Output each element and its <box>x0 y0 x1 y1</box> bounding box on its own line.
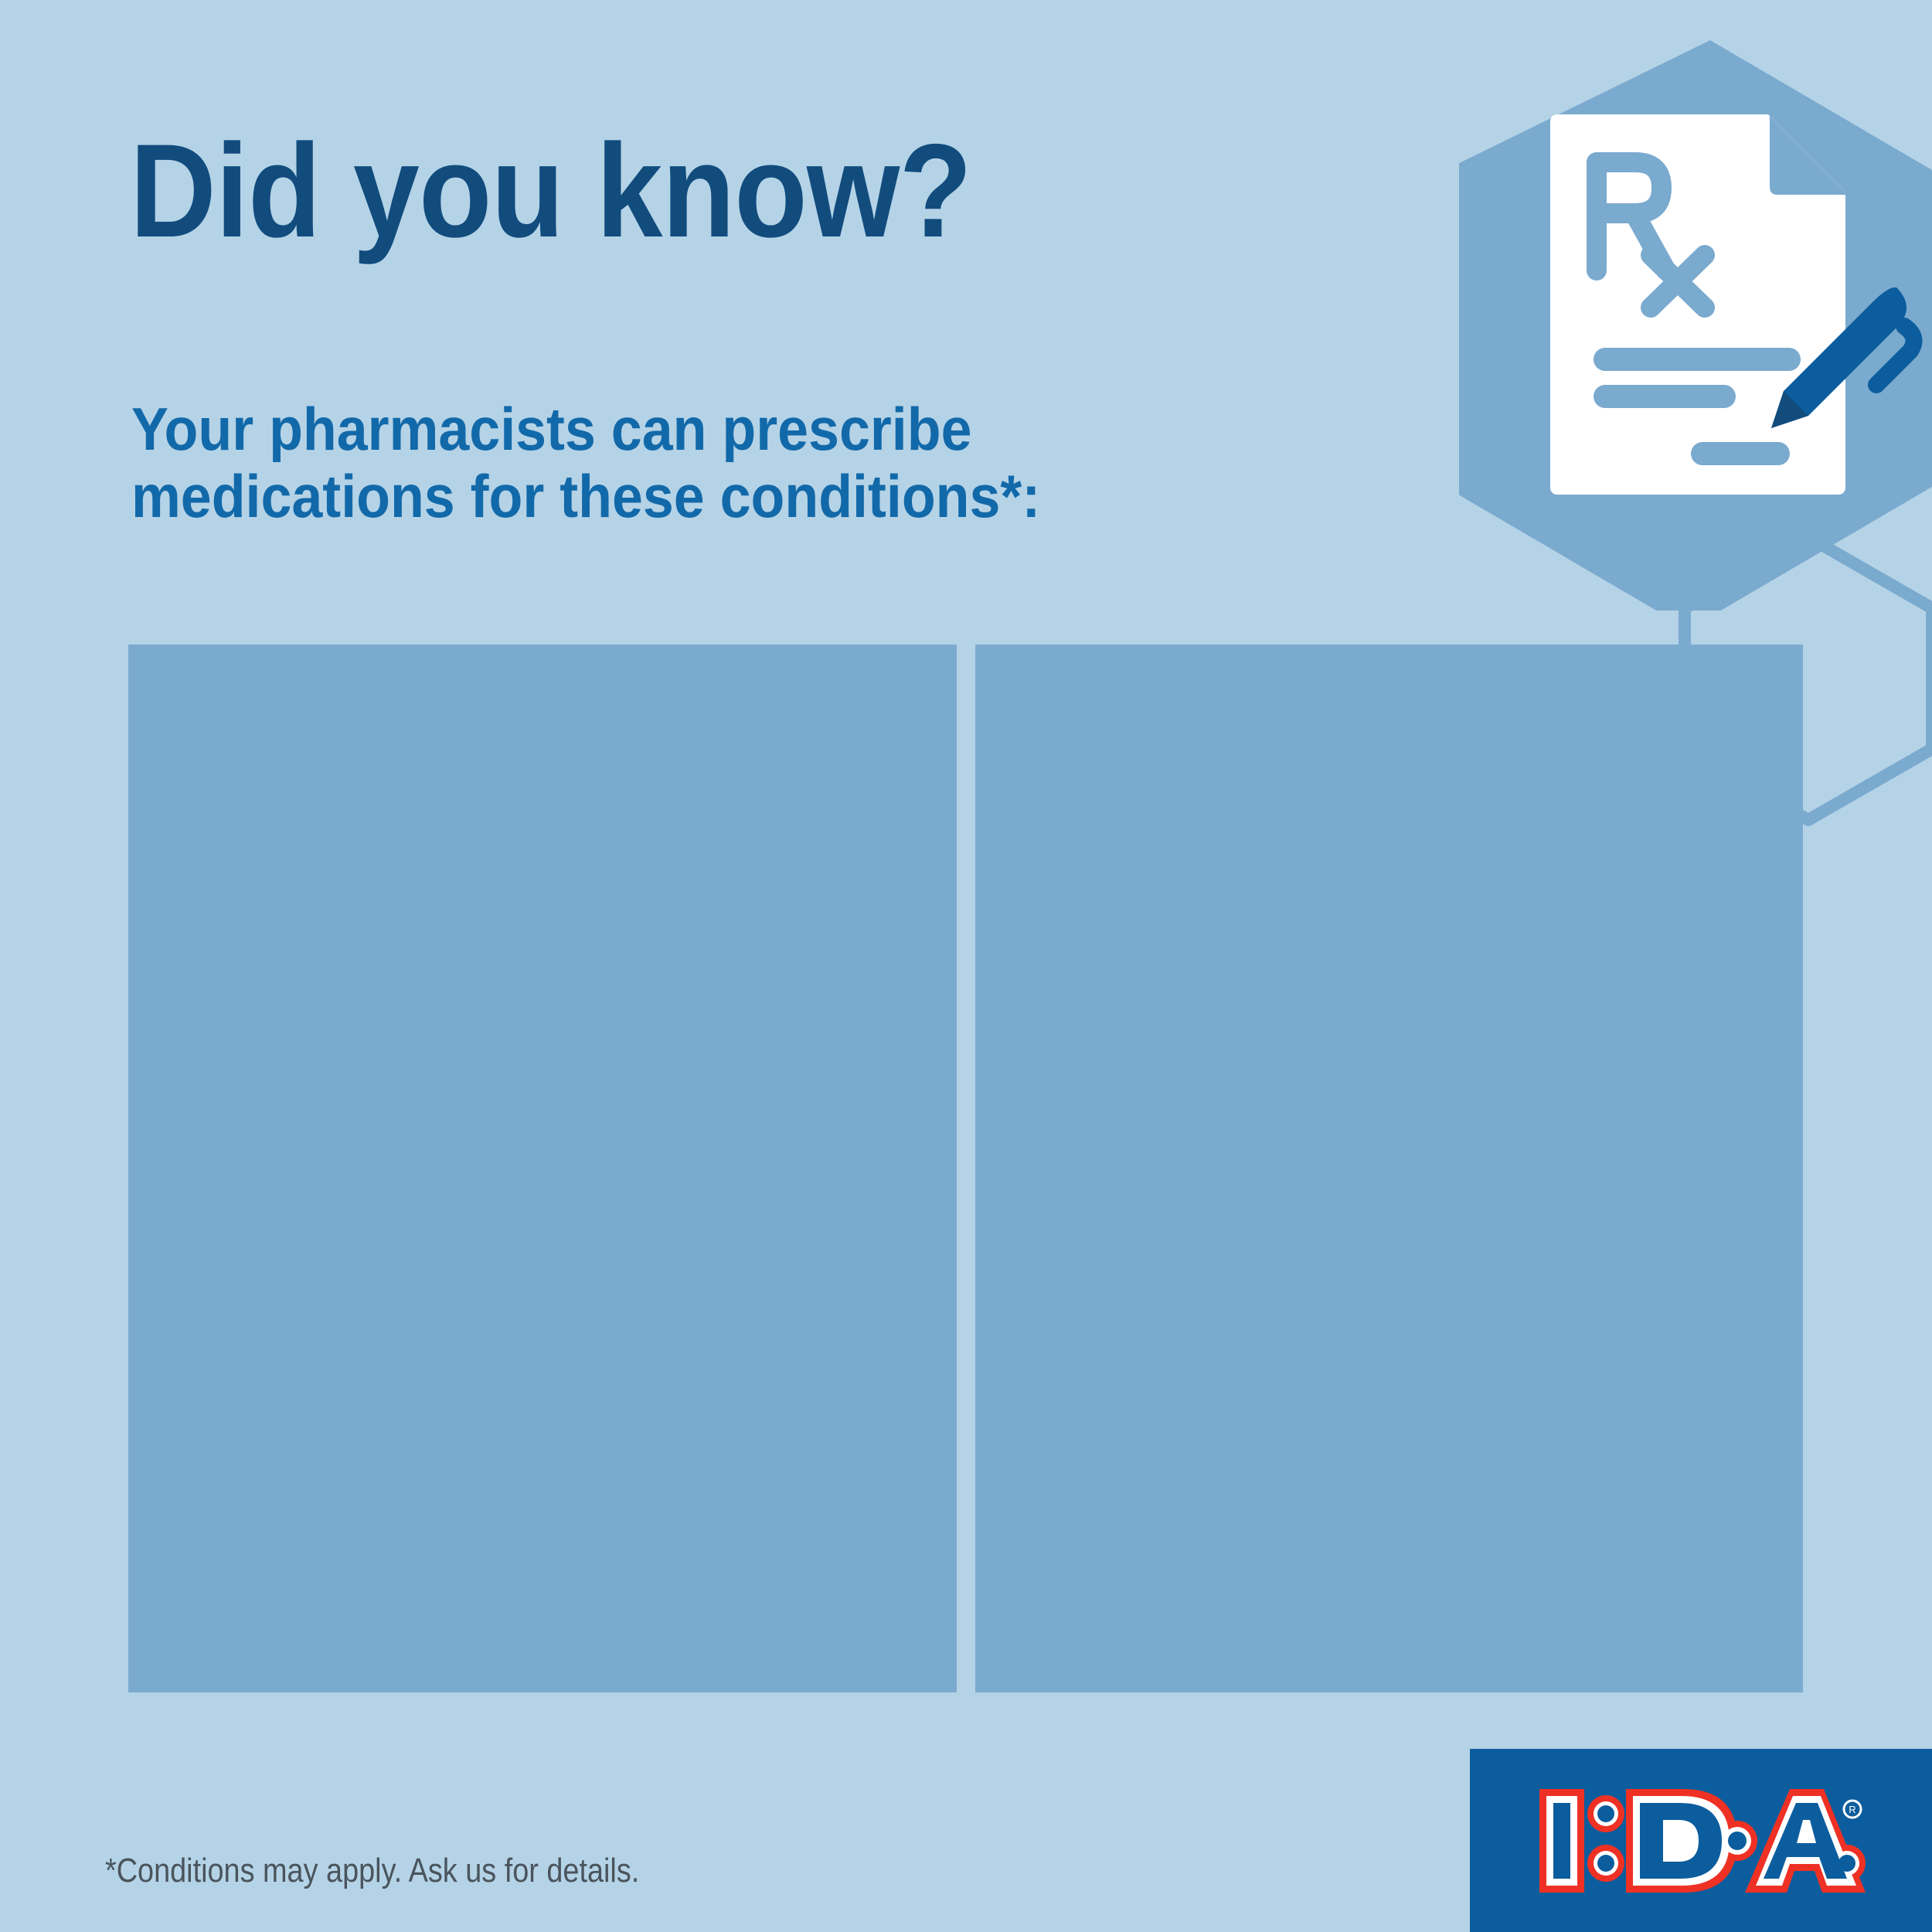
footnote-disclaimer: *Conditions may apply. Ask us for detail… <box>105 1852 639 1890</box>
conditions-panels <box>128 645 1803 1692</box>
ida-logo-block: R <box>1470 1749 1932 1932</box>
prescription-badge <box>1459 23 1932 611</box>
prescription-document-icon <box>1459 23 1932 611</box>
page-title: Did you know? <box>130 124 971 259</box>
conditions-column-left <box>128 645 957 1692</box>
poster-canvas: Did you know? Your pharmacists can presc… <box>0 0 1932 1932</box>
ida-logo-icon: R <box>1535 1783 1867 1899</box>
subheading: Your pharmacists can prescribe medicatio… <box>131 396 1040 531</box>
subheading-line-1: Your pharmacists can prescribe <box>131 396 1040 463</box>
subheading-line-2: medications for these conditions*: <box>131 463 1040 530</box>
conditions-column-right <box>975 645 1803 1692</box>
registered-trademark-icon: R <box>1844 1801 1861 1818</box>
svg-text:R: R <box>1849 1804 1855 1815</box>
